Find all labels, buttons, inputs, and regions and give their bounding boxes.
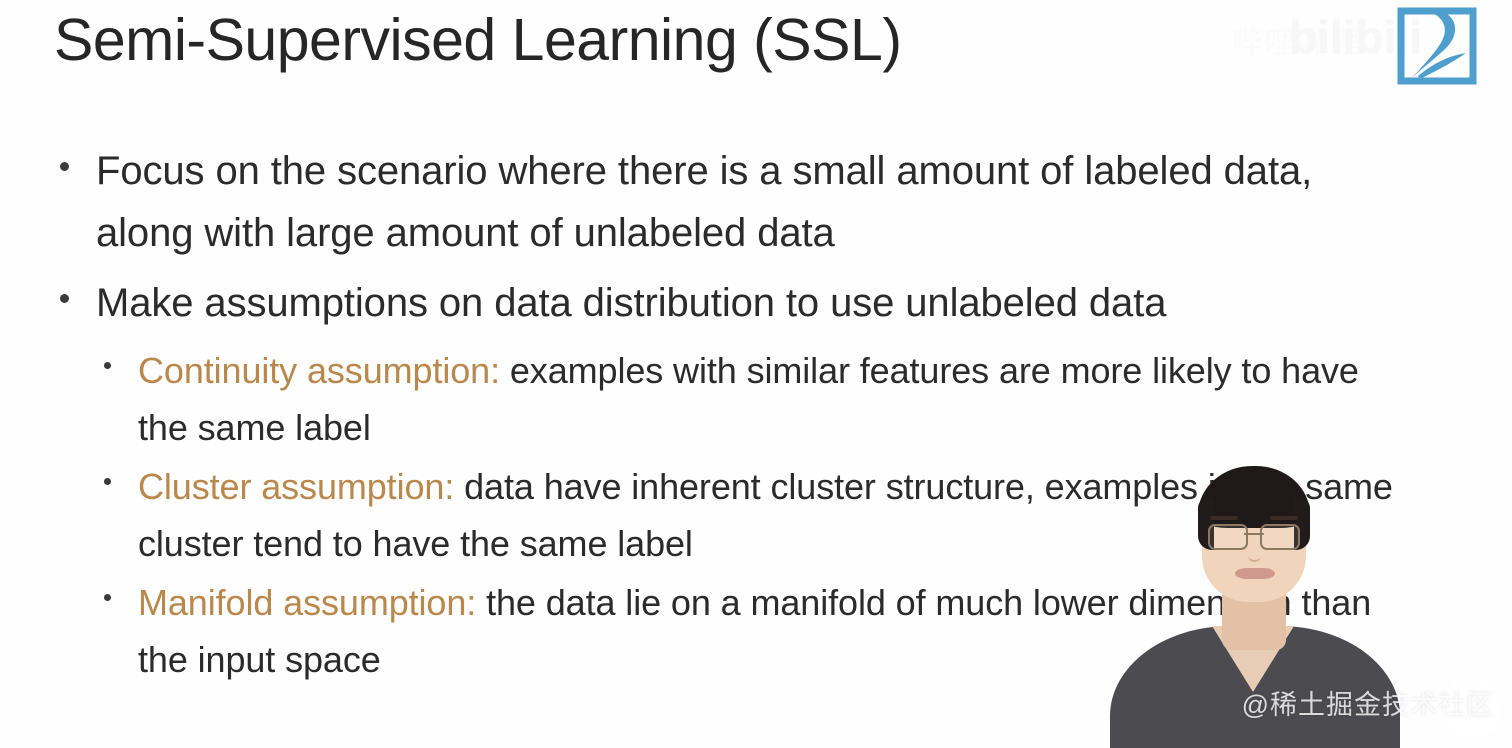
bullet-text: Make assumptions on data distribution to… [96,272,1394,334]
bullet-dot-icon [104,594,111,601]
page-title: Semi-Supervised Learning (SSL) [54,4,901,78]
list-item: Make assumptions on data distribution to… [54,272,1394,334]
assumption-term-manifold: Manifold assumption: [138,582,476,623]
presenter-eyebrow-left [1210,516,1238,520]
presenter-nose [1248,546,1261,562]
presentation-slide: Semi-Supervised Learning (SSL) 哔哩哔哩 bili… [0,0,1512,748]
list-item: Focus on the scenario where there is a s… [54,140,1394,264]
bullet-text: Focus on the scenario where there is a s… [96,140,1394,264]
assumption-term-continuity: Continuity assumption: [138,350,500,391]
glasses-icon [1208,524,1300,546]
glasses-lens-right [1260,524,1300,550]
presenter-eyebrow-right [1270,516,1298,520]
bullet-dot-icon [104,478,111,485]
list-item: Continuity assumption: examples with sim… [94,342,1394,456]
site-watermark: @稀土掘金技术社区 [1242,683,1494,722]
bilibili-logo-icon [1396,6,1478,86]
sub-bullet-text: Continuity assumption: examples with sim… [138,342,1394,456]
bullet-dot-icon [60,294,69,303]
presenter-mouth [1235,568,1275,579]
assumption-term-cluster: Cluster assumption: [138,466,454,507]
bullet-dot-icon [60,162,69,171]
bullet-dot-icon [104,362,111,369]
glasses-lens-left [1208,524,1248,550]
